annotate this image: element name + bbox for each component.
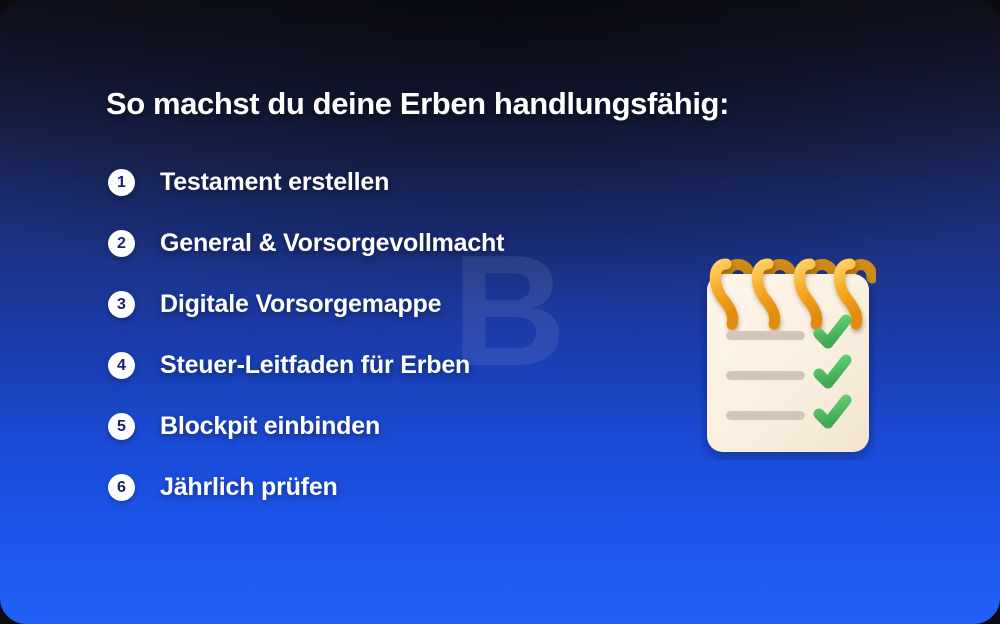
step-label: Steuer-Leitfaden für Erben: [160, 351, 470, 380]
step-label: General & Vorsorgevollmacht: [160, 229, 504, 258]
step-label: Blockpit einbinden: [160, 412, 380, 441]
list-item: 4 Steuer-Leitfaden für Erben: [108, 347, 708, 383]
step-number-badge: 2: [108, 230, 135, 257]
list-item: 2 General & Vorsorgevollmacht: [108, 225, 708, 261]
step-number-badge: 5: [108, 413, 135, 440]
step-label: Jährlich prüfen: [160, 473, 338, 502]
step-number-badge: 6: [108, 474, 135, 501]
notepad-checklist-icon: [700, 244, 876, 460]
step-number-badge: 3: [108, 291, 135, 318]
step-number-badge: 1: [108, 169, 135, 196]
step-label: Digitale Vorsorgemappe: [160, 290, 441, 319]
step-label: Testament erstellen: [160, 168, 389, 197]
promo-card: B So machst du deine Erben handlungsfähi…: [0, 0, 1000, 624]
list-item: 5 Blockpit einbinden: [108, 408, 708, 444]
step-number-badge: 4: [108, 352, 135, 379]
list-item: 6 Jährlich prüfen: [108, 469, 708, 505]
page-title: So machst du deine Erben handlungsfähig:: [106, 86, 729, 122]
steps-list: 1 Testament erstellen 2 General & Vorsor…: [108, 164, 708, 530]
list-item: 3 Digitale Vorsorgemappe: [108, 286, 708, 322]
list-item: 1 Testament erstellen: [108, 164, 708, 200]
